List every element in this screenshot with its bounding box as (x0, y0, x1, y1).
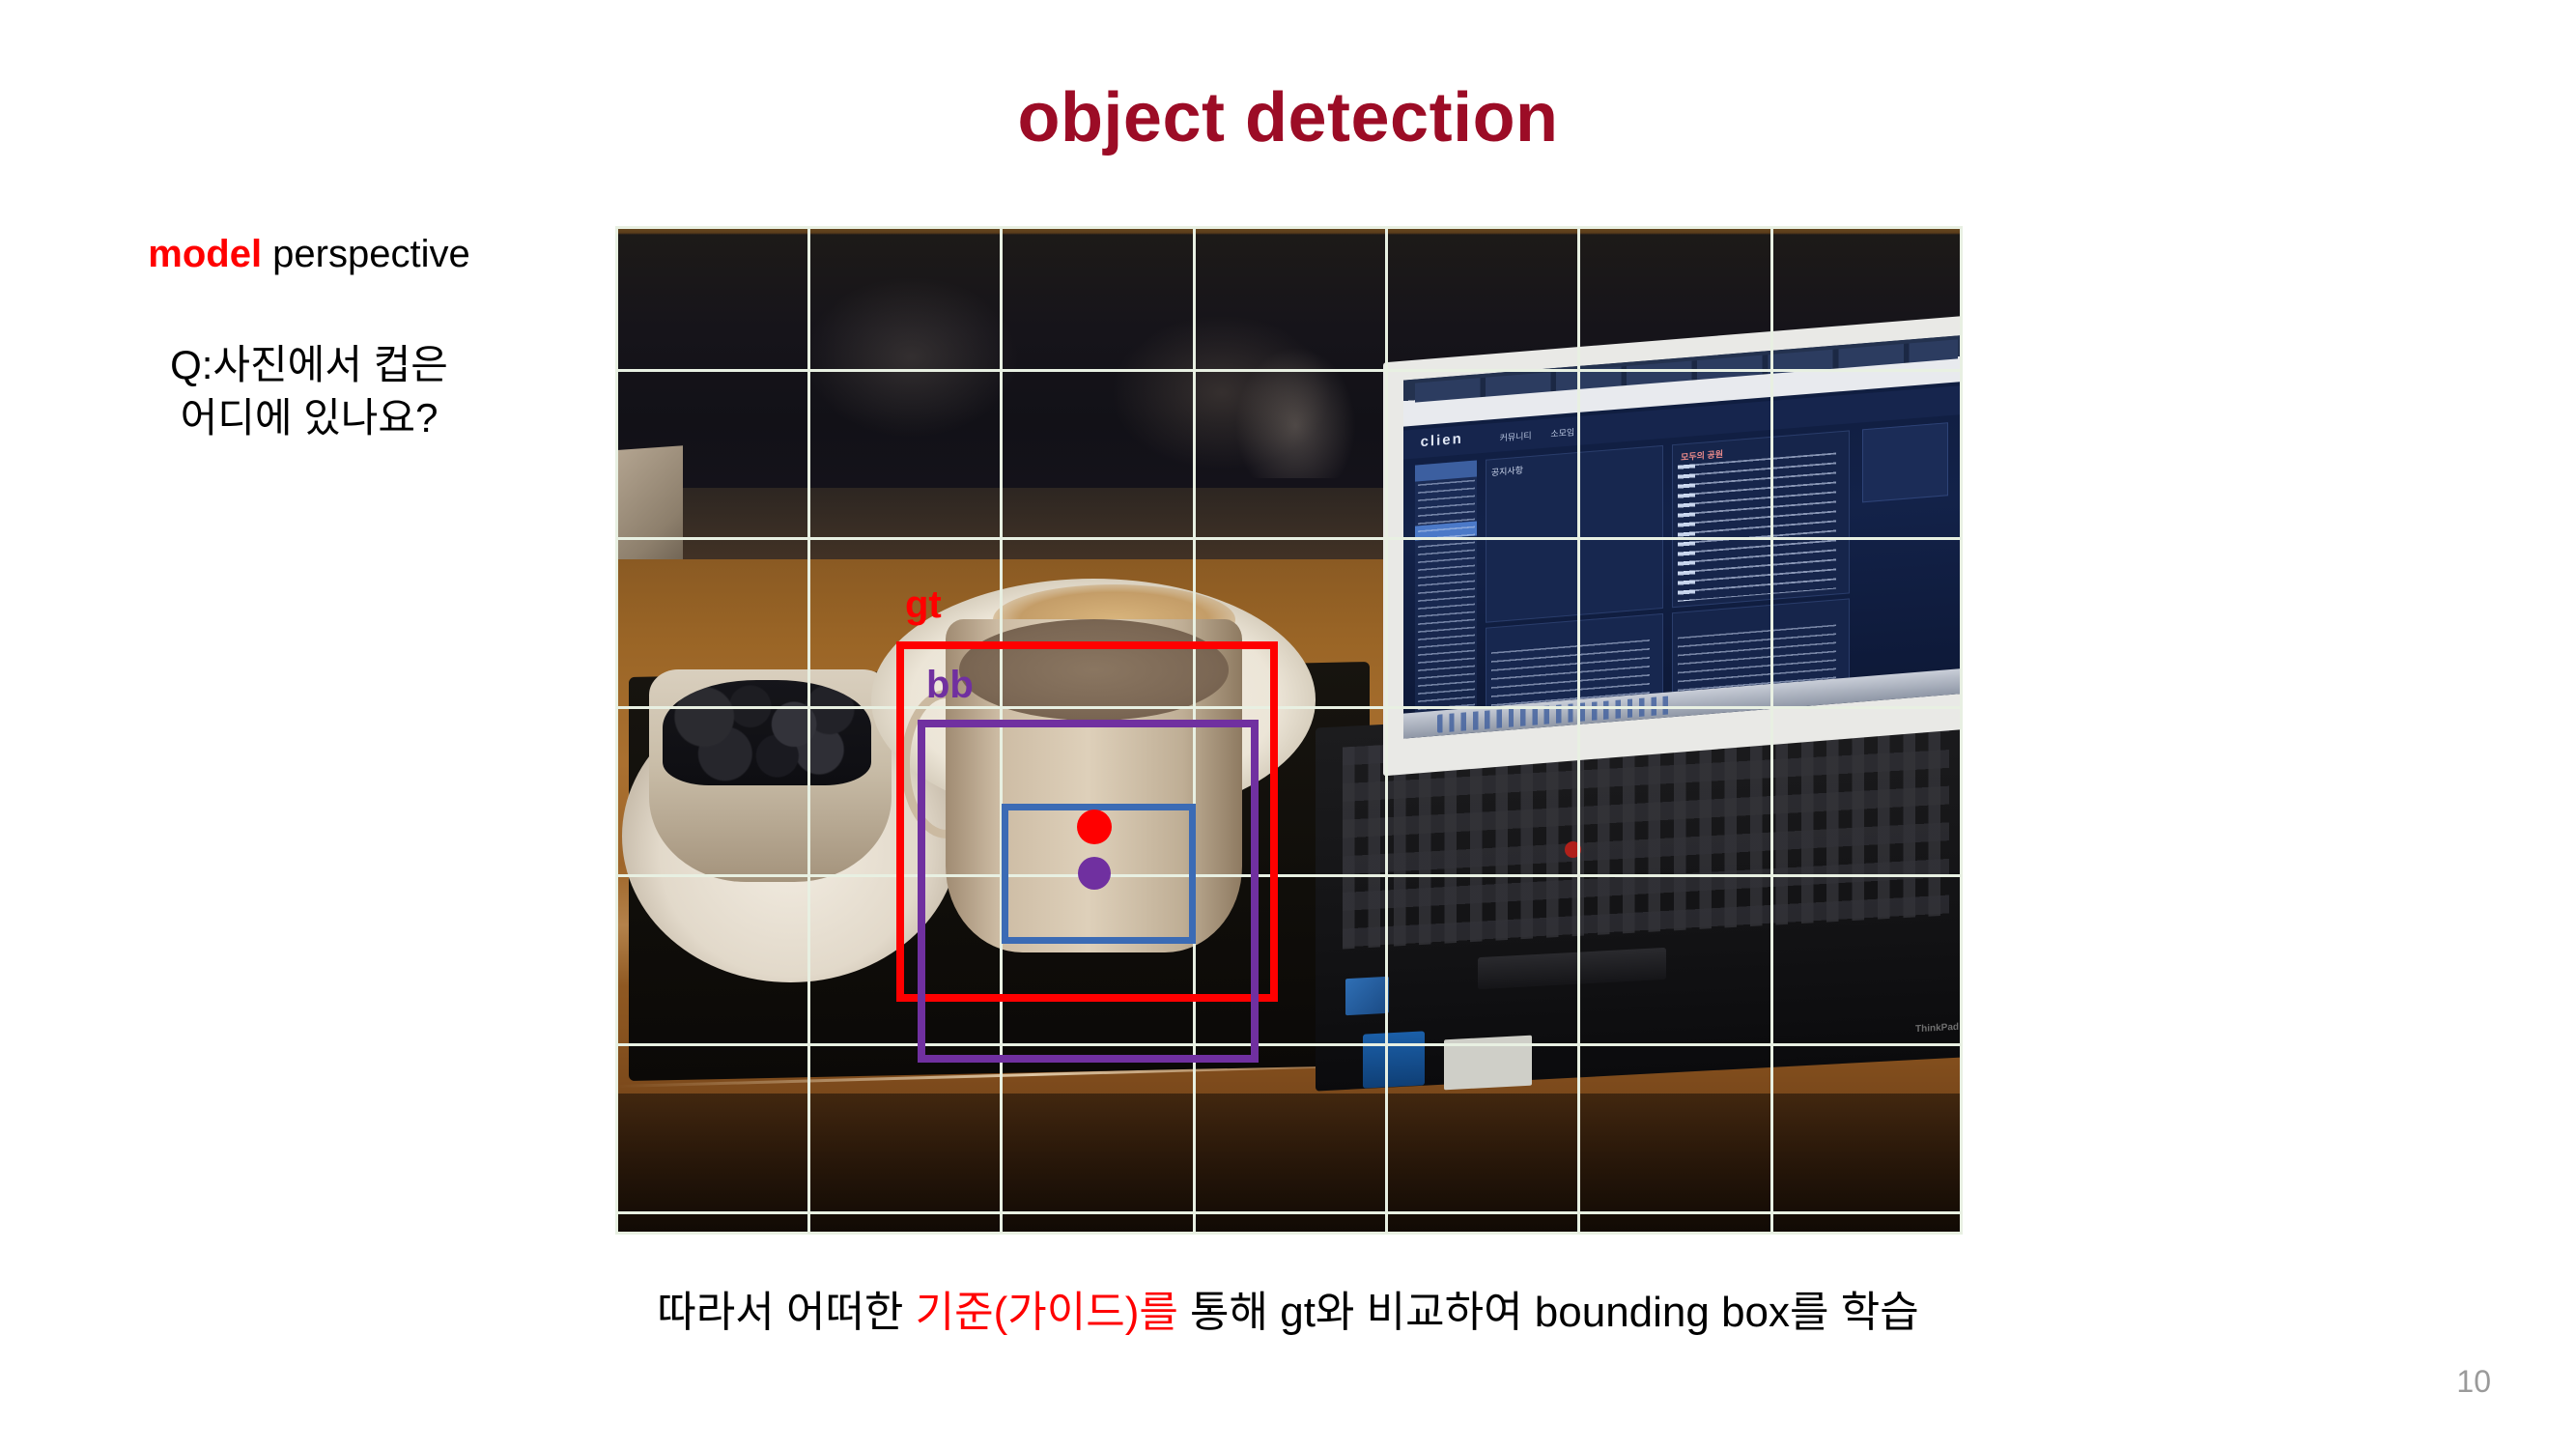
question-line-2: 어디에 있나요? (58, 391, 560, 444)
community-post-badges (1678, 464, 1695, 601)
question-line-1: Q:사진에서 컵은 (58, 338, 560, 391)
site-logo: clien (1421, 430, 1463, 450)
detection-figure: ThinkPad clien 커뮤니티 소모임 공지사항 모두의 공원 (615, 226, 1963, 1235)
windows-sticker (1345, 977, 1389, 1015)
site-nav-item-1: 소모임 (1550, 425, 1574, 440)
trackpoint-nub (1565, 841, 1581, 858)
photo-scene: ThinkPad clien 커뮤니티 소모임 공지사항 모두의 공원 (615, 226, 1963, 1235)
community-post-list (1678, 452, 1836, 601)
caption-part-2: 통해 gt와 비교하여 bounding box를 학습 (1178, 1289, 1919, 1336)
sidebar-widget (1862, 422, 1949, 502)
intel-core-sticker (1363, 1032, 1425, 1090)
site-nav-item-0: 커뮤니티 (1500, 428, 1532, 443)
model-keyword: model (148, 233, 262, 275)
dessert-topping (663, 680, 871, 786)
window-reflection-a (804, 276, 1019, 438)
left-text-column: model perspective Q:사진에서 컵은 어디에 있나요? (58, 230, 560, 445)
ground-truth-center-dot (1077, 810, 1112, 844)
perspective-word: perspective (262, 233, 470, 275)
laptop-brand-label: ThinkPad (1915, 1022, 1959, 1035)
notice-panel-title: 공지사항 (1491, 464, 1523, 479)
page-title: object detection (0, 83, 2576, 153)
caption-highlight: 기준(가이드)를 (916, 1289, 1178, 1336)
page-number: 10 (2456, 1364, 2491, 1400)
ground-truth-label: gt (905, 585, 942, 624)
predicted-box-label: bb (926, 666, 974, 704)
laptop-screen: clien 커뮤니티 소모임 공지사항 모두의 공원 (1403, 334, 1963, 738)
spec-sticker (1444, 1036, 1532, 1091)
question-text: Q:사진에서 컵은 어디에 있나요? (58, 338, 560, 445)
predicted-center-dot (1078, 857, 1111, 890)
sidebar-item-list (1418, 480, 1475, 714)
counter-shadow-band (615, 1094, 1963, 1235)
caption-part-1: 따라서 어떠한 (657, 1289, 915, 1336)
model-perspective-line: model perspective (58, 230, 560, 278)
caption: 따라서 어떠한 기준(가이드)를 통해 gt와 비교하여 bounding bo… (0, 1288, 2576, 1339)
window-reflection-c (1235, 347, 1357, 478)
